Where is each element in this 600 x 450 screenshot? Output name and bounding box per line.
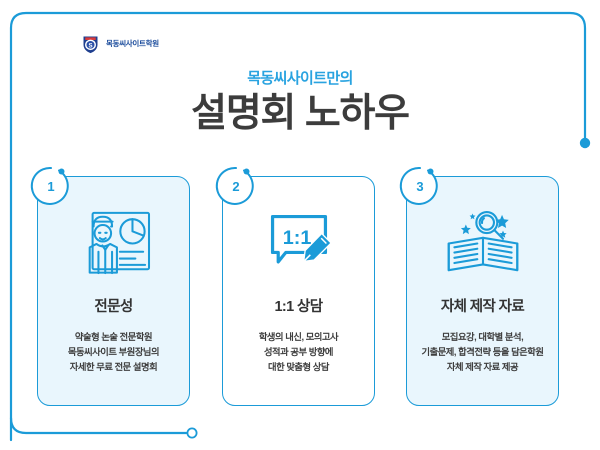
feature-card-1-body: 약술형 논술 전문학원 목동씨사이트 부원장님의 자세한 무료 전문 설명회: [64, 330, 163, 375]
shield-crest-icon: S: [80, 33, 101, 54]
brand-logo: S 목동씨사이트학원: [80, 33, 159, 54]
frame-dot-hollow-icon: [187, 428, 196, 437]
feature-card-1-title: 전문성: [94, 295, 132, 316]
feature-card-3-number: 3: [398, 164, 442, 208]
book-magnifier-icon: [443, 205, 523, 281]
presenter-chart-icon: [75, 205, 153, 281]
headline-subtitle: 목동씨사이트만의: [0, 67, 600, 88]
feature-card-3-number-badge: 3: [398, 164, 442, 208]
feature-card-2-title: 1:1 상담: [274, 295, 322, 316]
feature-card-1-number: 1: [29, 164, 73, 208]
slide-canvas: S 목동씨사이트학원 목동씨사이트만의 설명회 노하우: [0, 0, 600, 450]
feature-card-3[interactable]: 자체 제작 자료 모집요강, 대학별 분석, 기출문제, 합격전략 등을 담은학…: [406, 176, 559, 406]
headline-title: 설명회 노하우: [0, 92, 600, 137]
speech-bubble-label: 1:1: [282, 227, 311, 249]
feature-card-1[interactable]: 전문성 약술형 논술 전문학원 목동씨사이트 부원장님의 자세한 무료 전문 설…: [37, 176, 190, 406]
svg-text:S: S: [88, 42, 92, 49]
feature-card-2-number: 2: [214, 164, 258, 208]
feature-card-1-number-badge: 1: [29, 164, 73, 208]
feature-card-3-title: 자체 제작 자료: [441, 295, 524, 316]
feature-card-2-body: 학생의 내신, 모의고사 성적과 공부 방향에 대한 맞춤형 상담: [255, 330, 342, 375]
feature-card-2-number-badge: 2: [214, 164, 258, 208]
frame-dot-filled-icon: [580, 138, 590, 148]
speech-bubble-pencil-icon: 1:1: [261, 205, 337, 281]
frame-path-bottom: [11, 418, 186, 433]
feature-card-3-body: 모집요강, 대학별 분석, 기출문제, 합격전략 등을 담은학원 자체 제작 자…: [418, 330, 548, 375]
brand-logo-text: 목동씨사이트학원: [106, 38, 159, 49]
feature-card-2[interactable]: 1:1 1:1 상담 학생의 내신, 모의고사 성적과 공부 방향에 대한 맞춤…: [222, 176, 375, 406]
